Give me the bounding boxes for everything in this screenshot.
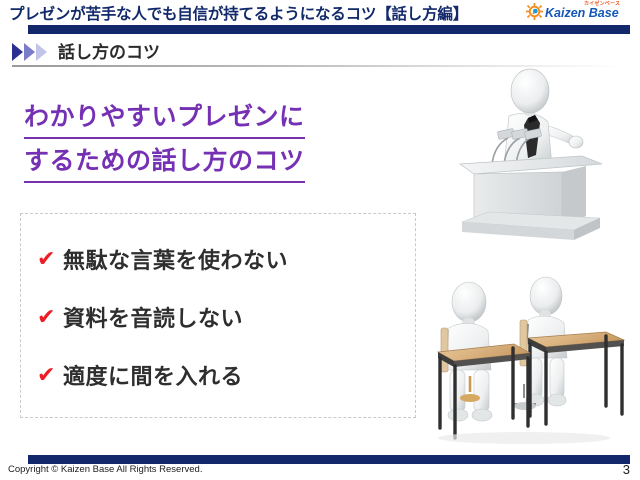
check-mark-icon: ✔: [37, 364, 63, 386]
list-item: ✔ 資料を音読しない: [37, 288, 397, 346]
kaizen-base-logo: カイゼンベース Kaizen Base: [526, 1, 634, 23]
page-number: 3: [623, 462, 630, 477]
footer-copyright: Copyright © Kaizen Base All Rights Reser…: [8, 464, 202, 475]
presenter-figure: [504, 69, 583, 166]
gear-sun-icon: [526, 3, 543, 20]
main-heading: わかりやすいプレゼンに するための話し方のコツ: [24, 98, 414, 183]
two-people-at-desks-illustration: [424, 266, 634, 446]
presenter-at-podium-illustration: [424, 68, 632, 240]
list-item-label: 資料を音読しない: [63, 301, 243, 333]
main-heading-line-1: わかりやすいプレゼンに: [24, 98, 305, 139]
list-item-label: 無駄な言葉を使わない: [63, 243, 288, 275]
podium: [460, 156, 602, 240]
list-item-label: 適度に間を入れる: [63, 359, 243, 391]
check-mark-icon: ✔: [37, 306, 63, 328]
footer-rule-bar: [28, 455, 630, 464]
main-heading-line-2: するための話し方のコツ: [24, 142, 305, 183]
slide-header: プレゼンが苦手な人でも自信が持てるようになるコツ【話し方編】 カ: [0, 0, 640, 36]
list-item: ✔ 適度に間を入れる: [37, 346, 397, 404]
header-rule-bar: [28, 25, 630, 34]
section-divider: [12, 65, 622, 67]
bullet-list: ✔ 無駄な言葉を使わない ✔ 資料を音読しない ✔ 適度に間を入れる: [37, 230, 397, 404]
desk-right: [528, 332, 624, 424]
section-title-label: 話し方のコツ: [58, 38, 160, 63]
list-item: ✔ 無駄な言葉を使わない: [37, 230, 397, 288]
check-mark-icon: ✔: [37, 248, 63, 270]
chair-back-left: [441, 328, 448, 372]
logo-wordmark: Kaizen Base: [545, 6, 619, 20]
bullet-list-box: ✔ 無駄な言葉を使わない ✔ 資料を音読しない ✔ 適度に間を入れる: [20, 213, 416, 418]
page-title: プレゼンが苦手な人でも自信が持てるようになるコツ【話し方編】: [9, 2, 468, 24]
triple-chevron-right-icon: [12, 43, 56, 61]
